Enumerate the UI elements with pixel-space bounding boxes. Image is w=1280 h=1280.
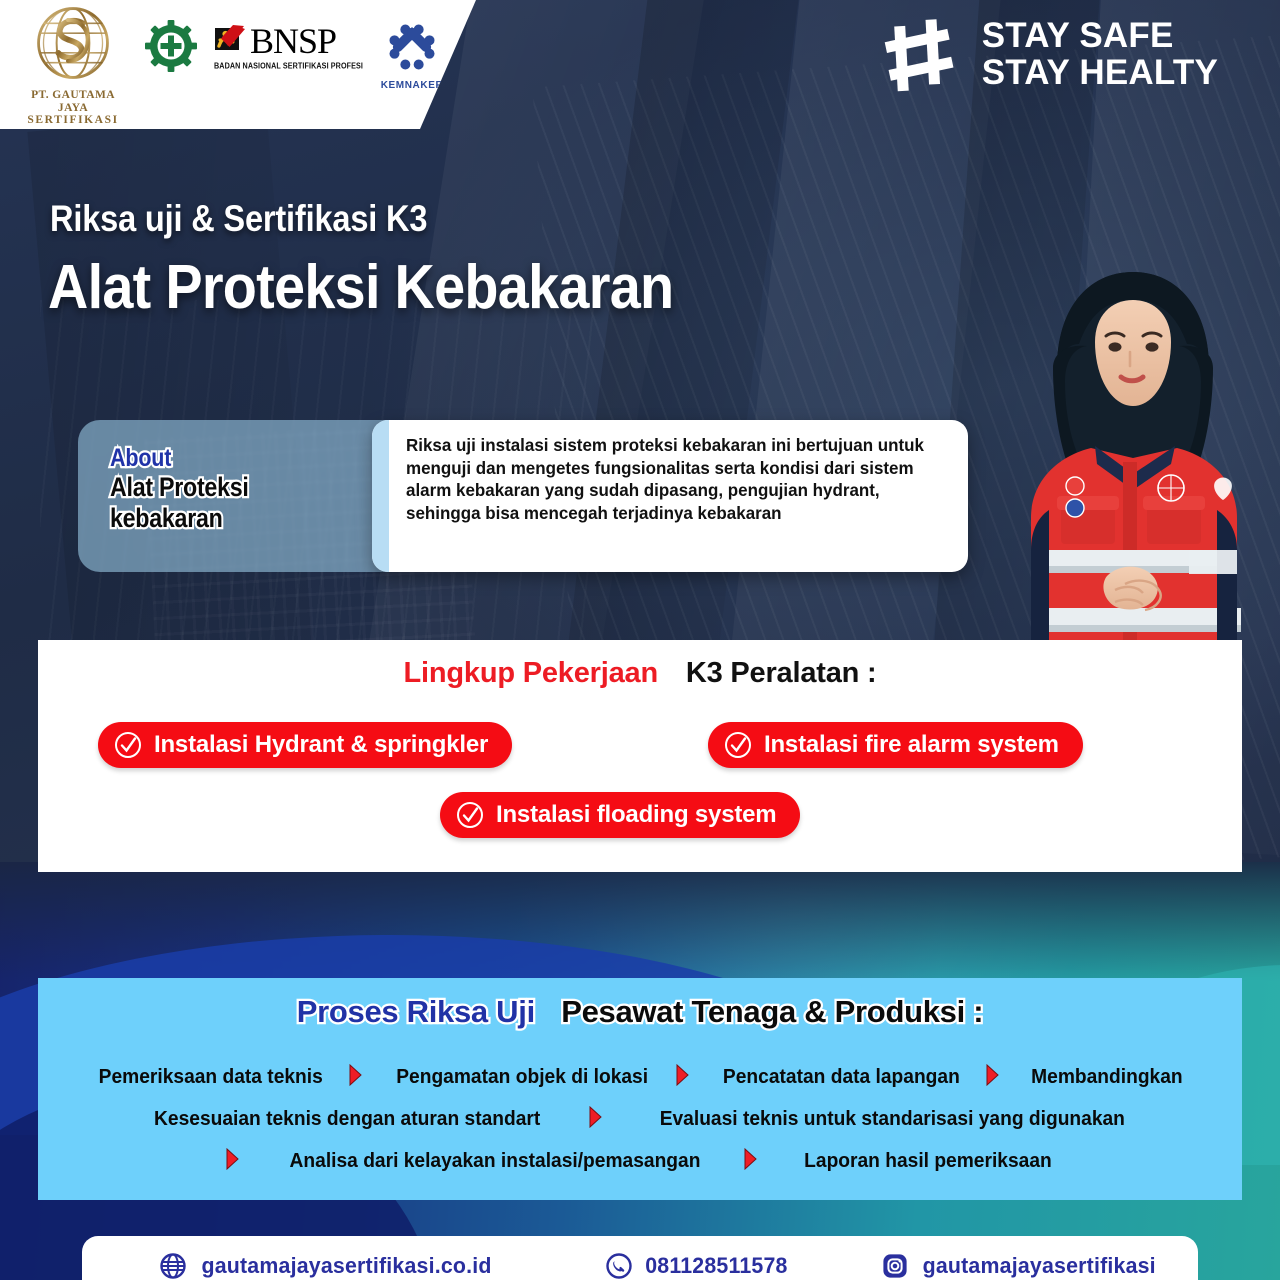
k3-gear-cross-logo	[142, 20, 200, 72]
process-heading: Proses Riksa Uji Pesawat Tenaga & Produk…	[38, 994, 1242, 1030]
poster-canvas: PT. GAUTAMA JAYA SERTIFIKASI	[0, 0, 1280, 1280]
phone-text: 081128511578	[645, 1253, 787, 1279]
process-panel: Proses Riksa Uji Pesawat Tenaga & Produk…	[38, 978, 1242, 1200]
about-label-line1: Alat Proteksi	[110, 472, 249, 503]
contact-instagram[interactable]: gautamajayasertifikasi	[882, 1253, 1159, 1279]
check-circle-icon	[456, 801, 484, 829]
process-step: Laporan hasil pemeriksaan	[804, 1150, 1052, 1173]
globe-icon	[160, 1253, 186, 1279]
process-row: Kesesuaian teknis dengan aturan standart…	[38, 1098, 1242, 1140]
about-card-accent-strip	[372, 420, 389, 572]
check-circle-icon	[724, 731, 752, 759]
arrow-right-icon	[586, 1106, 612, 1133]
contact-footer-bar: gautamajayasertifikasi.co.id 08112851157…	[82, 1236, 1198, 1280]
scope-item-hydrant-sprinkler[interactable]: Instalasi Hydrant & springkler	[98, 722, 512, 768]
page-title: Alat Proteksi Kebakaran	[48, 252, 673, 323]
process-heading-blue: Proses Riksa Uji	[297, 994, 535, 1029]
process-heading-black: Pesawat Tenaga & Produksi :	[561, 994, 983, 1029]
process-step: Kesesuaian teknis dengan aturan standart	[154, 1108, 540, 1131]
kemnaker-emblem-icon	[387, 22, 437, 72]
hashtag-icon	[880, 14, 966, 94]
technician-photo	[975, 250, 1280, 648]
arrow-right-icon	[983, 1064, 1009, 1091]
process-step: Pencatatan data lapangan	[723, 1066, 960, 1089]
whatsapp-icon	[606, 1253, 632, 1279]
scope-item-label: Instalasi floading system	[496, 801, 776, 829]
process-step: Pengamatan objek di lokasi	[397, 1066, 649, 1089]
arrow-right-icon	[673, 1064, 699, 1091]
bnsp-emblem-icon	[214, 24, 248, 58]
scope-heading-red: Lingkup Pekerjaan	[404, 657, 658, 689]
about-label-line2: kebakaran	[110, 503, 249, 534]
scope-heading: Lingkup Pekerjaan K3 Peralatan :	[38, 657, 1242, 690]
process-step: Pemeriksaan data teknis	[98, 1066, 322, 1089]
arrow-right-icon	[223, 1148, 249, 1175]
arrow-right-icon	[741, 1148, 767, 1175]
process-steps: Pemeriksaan data teknis Pengamatan objek…	[38, 1056, 1242, 1182]
scope-heading-black: K3 Peralatan :	[686, 657, 877, 689]
contact-phone[interactable]: 081128511578	[606, 1253, 790, 1279]
header-logo-bar: PT. GAUTAMA JAYA SERTIFIKASI	[0, 0, 476, 129]
process-step: Analisa dari kelayakan instalasi/pemasan…	[290, 1150, 701, 1173]
process-row: Analisa dari kelayakan instalasi/pemasan…	[38, 1140, 1242, 1182]
scope-item-label: Instalasi Hydrant & springkler	[154, 731, 488, 759]
instagram-text: gautamajayasertifikasi	[922, 1253, 1155, 1279]
scope-item-label: Instalasi fire alarm system	[764, 731, 1059, 759]
bnsp-tagline: BADAN NASIONAL SERTIFIKASI PROFESI	[214, 61, 360, 71]
about-text-card: Riksa uji instalasi sistem proteksi keba…	[372, 420, 968, 572]
check-circle-icon	[114, 731, 142, 759]
website-text: gautamajayasertifikasi.co.id	[201, 1253, 491, 1279]
instagram-icon	[882, 1253, 908, 1279]
arrow-right-icon	[346, 1064, 372, 1091]
process-step: Evaluasi teknis untuk standarisasi yang …	[660, 1108, 1125, 1131]
about-body-text: Riksa uji instalasi sistem proteksi keba…	[406, 434, 931, 524]
bnsp-wordmark: BNSP	[250, 24, 336, 58]
logo-company-line2: SERTIFIKASI	[18, 114, 128, 127]
slogan-line-2: STAY HEALTY	[982, 54, 1218, 91]
scope-item-floading-system[interactable]: Instalasi floading system	[440, 792, 800, 838]
pt-gautama-jaya-sertifikasi-logo: PT. GAUTAMA JAYA SERTIFIKASI	[18, 2, 128, 127]
bnsp-logo: BNSP BADAN NASIONAL SERTIFIKASI PROFESI	[214, 24, 360, 70]
globe-monogram-icon	[32, 2, 114, 84]
process-step: Membandingkan	[1032, 1066, 1183, 1089]
logo-company-line1: PT. GAUTAMA JAYA	[18, 89, 128, 114]
process-row: Pemeriksaan data teknis Pengamatan objek…	[38, 1056, 1242, 1098]
about-section: About Alat Proteksi kebakaran Riksa uji …	[78, 420, 968, 572]
gear-cross-icon	[145, 20, 197, 72]
safety-slogan: STAY SAFE STAY HEALTY	[880, 14, 1218, 94]
about-label-top: About	[110, 444, 249, 472]
scope-item-fire-alarm[interactable]: Instalasi fire alarm system	[708, 722, 1083, 768]
contact-website[interactable]: gautamajayasertifikasi.co.id	[160, 1253, 496, 1279]
slogan-line-1: STAY SAFE	[982, 17, 1218, 54]
kemnaker-logo: KEMNAKER	[374, 22, 450, 91]
hero-eyebrow: Riksa uji & Sertifikasi K3	[50, 198, 427, 240]
slogan-text: STAY SAFE STAY HEALTY	[982, 17, 1218, 92]
